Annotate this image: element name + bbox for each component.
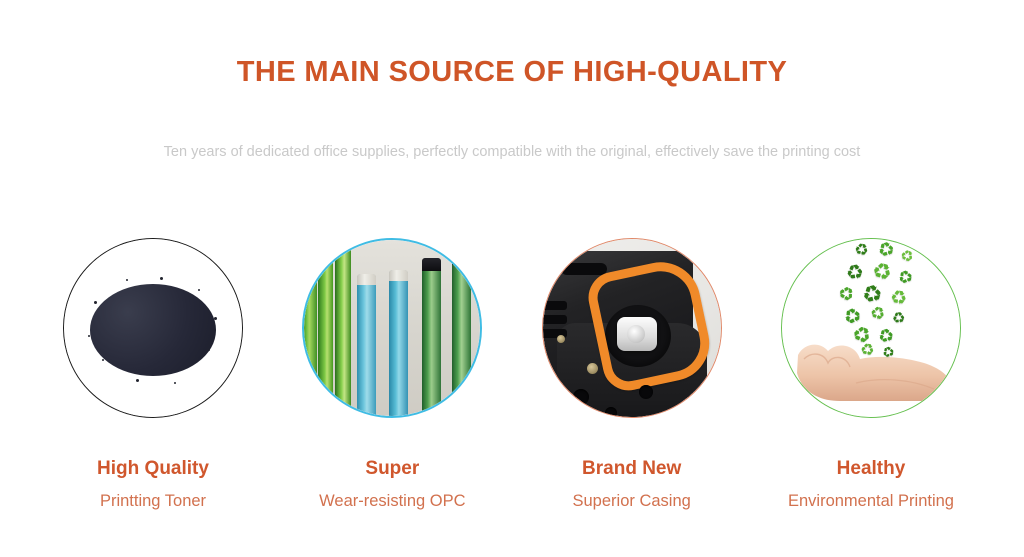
feature-item-high-quality: High Quality Printting Toner	[48, 238, 258, 511]
page-title: THE MAIN SOURCE OF HIGH-QUALITY	[0, 56, 1024, 89]
feature-item-super: Super Wear-resisting OPC	[287, 238, 497, 511]
feature-item-healthy: ♻ ♻ ♻ ♻ ♻ ♻ ♻ ♻ ♻ ♻ ♻ ♻ ♻ ♻ ♻ ♻	[766, 238, 976, 511]
toner-powder-photo	[63, 238, 243, 418]
feature-item-brand-new: Brand New Superior Casing	[527, 238, 737, 511]
feature-subtitle: Printting Toner	[100, 492, 206, 511]
cartridge-casing-art	[543, 239, 721, 417]
open-hand-shape	[794, 329, 954, 401]
toner-pile-shape	[90, 284, 216, 376]
feature-subtitle: Environmental Printing	[788, 492, 954, 511]
toner-cartridge-casing-photo	[542, 238, 722, 418]
feature-subtitle: Superior Casing	[573, 492, 691, 511]
eco-recycle-hand-photo: ♻ ♻ ♻ ♻ ♻ ♻ ♻ ♻ ♻ ♻ ♻ ♻ ♻ ♻ ♻ ♻	[781, 238, 961, 418]
feature-title: Super	[365, 458, 419, 480]
feature-title: Brand New	[582, 458, 681, 480]
opc-drum-photo	[302, 238, 482, 418]
eco-recycle-art: ♻ ♻ ♻ ♻ ♻ ♻ ♻ ♻ ♻ ♻ ♻ ♻ ♻ ♻ ♻ ♻	[782, 239, 960, 417]
feature-list: High Quality Printting Toner Super Wear-…	[0, 238, 1024, 538]
product-feature-banner: THE MAIN SOURCE OF HIGH-QUALITY Ten year…	[0, 0, 1024, 557]
opc-drum-art	[304, 240, 480, 416]
feature-subtitle: Wear-resisting OPC	[319, 492, 465, 511]
toner-powder-art	[64, 239, 242, 417]
page-subtitle: Ten years of dedicated office supplies, …	[0, 144, 1024, 160]
feature-title: Healthy	[837, 458, 906, 480]
feature-title: High Quality	[97, 458, 209, 480]
